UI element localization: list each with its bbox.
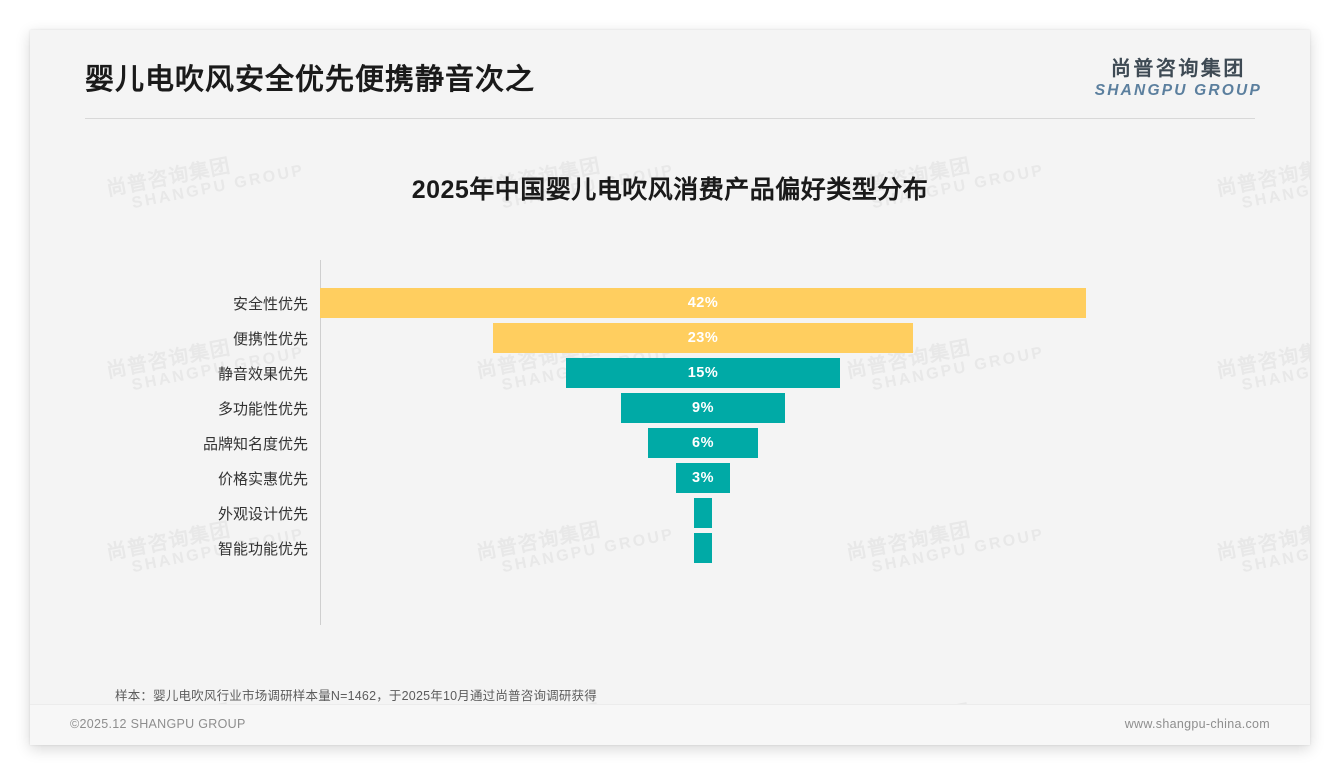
category-label: 安全性优先 xyxy=(108,288,308,318)
category-label: 便携性优先 xyxy=(108,323,308,353)
bar-8[interactable] xyxy=(694,533,712,563)
bar-6[interactable]: 3% xyxy=(676,463,731,493)
bar-value-label: 6% xyxy=(692,435,714,451)
bar-value-label: 23% xyxy=(688,330,719,346)
bar-value-label: 15% xyxy=(688,365,719,381)
category-label: 智能功能优先 xyxy=(108,533,308,563)
category-label: 多功能性优先 xyxy=(108,393,308,423)
bar-row: 安全性优先42% xyxy=(30,288,1310,318)
bar-4[interactable]: 9% xyxy=(621,393,785,423)
bar-row: 价格实惠优先3% xyxy=(30,463,1310,493)
funnel-bar-chart: 安全性优先42%便携性优先23%静音效果优先15%多功能性优先9%品牌知名度优先… xyxy=(30,30,1310,745)
bar-row: 品牌知名度优先6% xyxy=(30,428,1310,458)
source-note: 样本：婴儿电吹风行业市场调研样本量N=1462，于2025年10月通过尚普咨询调… xyxy=(115,685,597,704)
bar-3[interactable]: 15% xyxy=(566,358,840,388)
bar-row: 智能功能优先 xyxy=(30,533,1310,563)
slide-canvas: 尚普咨询集团SHANGPU GROUP尚普咨询集团SHANGPU GROUP尚普… xyxy=(30,30,1310,745)
bar-2[interactable]: 23% xyxy=(493,323,912,353)
bar-5[interactable]: 6% xyxy=(648,428,757,458)
bar-7[interactable] xyxy=(694,498,712,528)
footer-website[interactable]: www.shangpu-china.com xyxy=(1125,717,1270,731)
footer-copyright: ©2025.12 SHANGPU GROUP xyxy=(70,717,246,731)
bar-value-label: 3% xyxy=(692,470,714,486)
category-label: 品牌知名度优先 xyxy=(108,428,308,458)
slide-footer: ©2025.12 SHANGPU GROUP www.shangpu-china… xyxy=(30,704,1310,745)
bar-row: 静音效果优先15% xyxy=(30,358,1310,388)
bar-row: 便携性优先23% xyxy=(30,323,1310,353)
bar-1[interactable]: 42% xyxy=(320,288,1086,318)
category-label: 静音效果优先 xyxy=(108,358,308,388)
bar-value-label: 9% xyxy=(692,400,714,416)
category-label: 价格实惠优先 xyxy=(108,463,308,493)
bar-row: 外观设计优先 xyxy=(30,498,1310,528)
category-label: 外观设计优先 xyxy=(108,498,308,528)
bar-value-label: 42% xyxy=(688,295,719,311)
screenshot-root: 尚普咨询集团SHANGPU GROUP尚普咨询集团SHANGPU GROUP尚普… xyxy=(0,0,1340,780)
bar-row: 多功能性优先9% xyxy=(30,393,1310,423)
